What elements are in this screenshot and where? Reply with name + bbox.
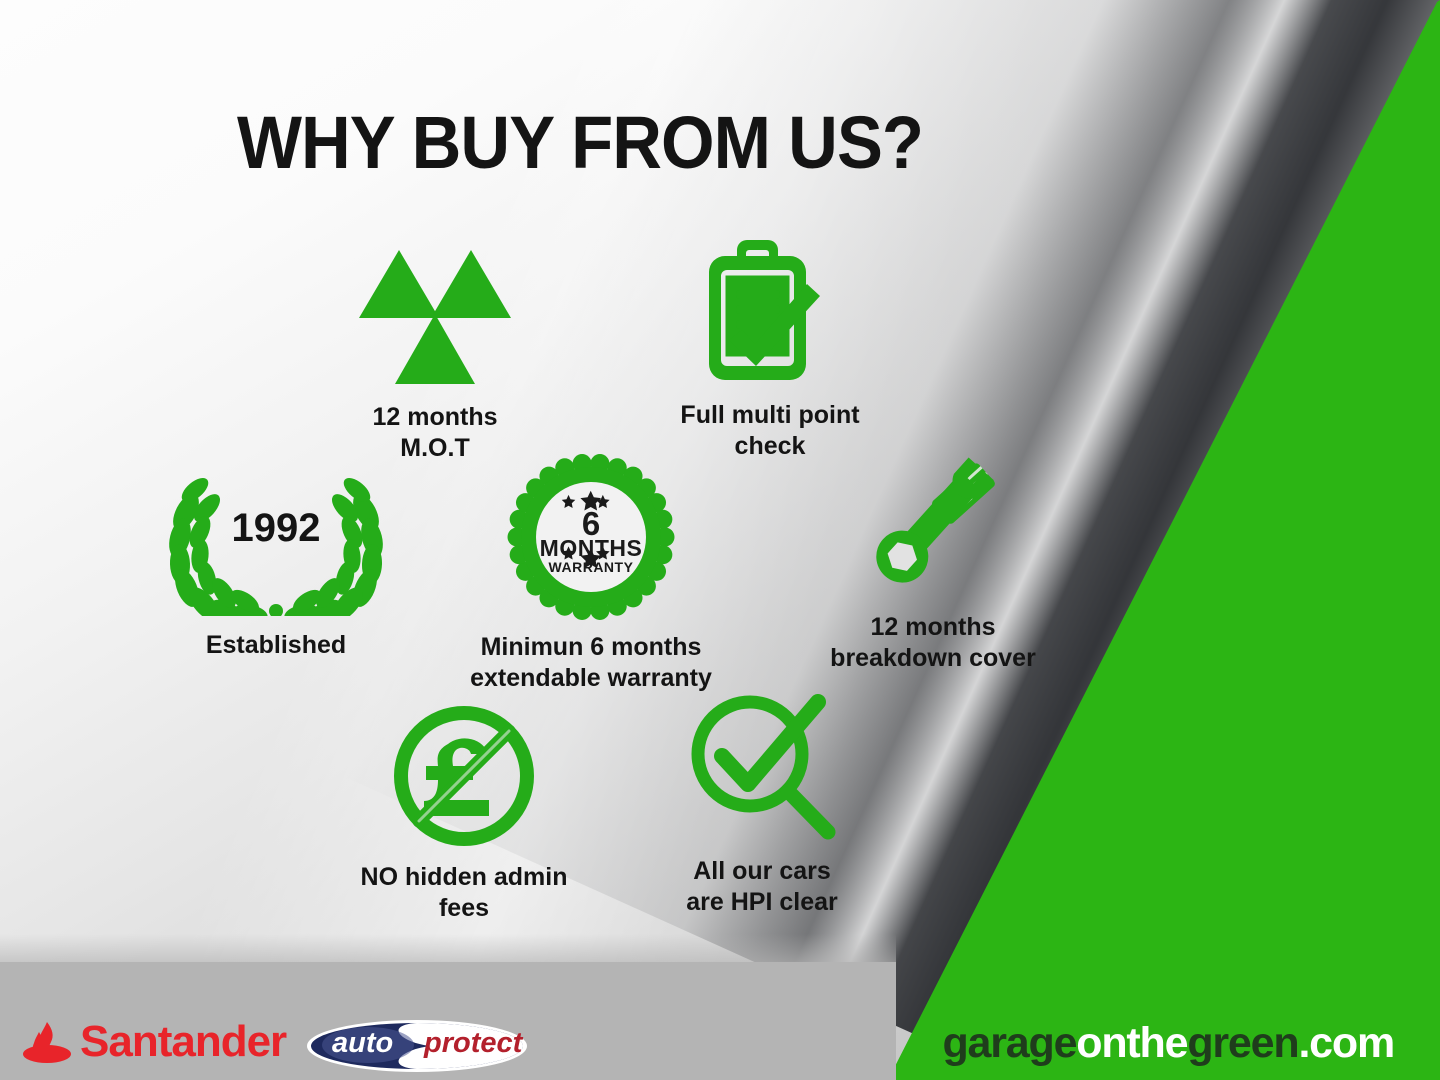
clipboard-check-icon: [630, 238, 910, 390]
feature-multi-point-check: Full multi point check: [630, 238, 910, 461]
svg-text:WARRANTY: WARRANTY: [549, 559, 634, 575]
autoprotect-logo[interactable]: auto protect: [306, 1018, 528, 1074]
feature-label: Established: [150, 630, 402, 661]
santander-flame-icon: [22, 1020, 72, 1064]
feature-warranty: 6 MONTHS WARRANTY Minimun 6 months exten…: [438, 452, 744, 693]
page-title: WHY BUY FROM US?: [41, 100, 1120, 185]
feature-established: 1992 Established: [150, 468, 402, 661]
autoprotect-word-auto: auto: [332, 1029, 393, 1058]
wrench-screwdriver-icon: [792, 440, 1074, 602]
brand-part-com: .com: [1298, 1019, 1394, 1067]
warranty-badge-icon: 6 MONTHS WARRANTY: [438, 452, 744, 622]
magnifier-check-icon: [618, 688, 906, 846]
feature-label: NO hidden admin fees: [324, 862, 604, 923]
feature-label: 12 months breakdown cover: [792, 612, 1074, 673]
feature-mot: 12 months M.O.T: [306, 244, 564, 463]
feature-label: All our cars are HPI clear: [618, 856, 906, 917]
svg-text:MONTHS: MONTHS: [540, 535, 643, 561]
santander-wordmark: Santander: [80, 1020, 286, 1064]
laurel-wreath-icon: 1992: [150, 468, 402, 616]
brand-part-green: green: [1187, 1019, 1298, 1067]
brand-part-onthe: onthe: [1076, 1019, 1187, 1067]
santander-logo[interactable]: Santander: [22, 1020, 286, 1064]
established-year: 1992: [150, 506, 402, 551]
autoprotect-word-protect: protect: [424, 1029, 522, 1058]
poster-canvas: WHY BUY FROM US? 12 months M.O.T: [0, 0, 1440, 1080]
footer-band-fade: [0, 934, 896, 980]
feature-hpi-clear: All our cars are HPI clear: [618, 688, 906, 917]
no-pound-fees-icon: [324, 700, 604, 852]
brand-part-garage: garage: [942, 1019, 1076, 1067]
brand-wordmark[interactable]: garageonthegreen.com: [942, 1022, 1394, 1065]
feature-no-hidden-fees: NO hidden admin fees: [324, 700, 604, 923]
feature-breakdown-cover: 12 months breakdown cover: [792, 440, 1074, 673]
feature-label: Minimun 6 months extendable warranty: [438, 632, 744, 693]
mot-triangles-icon: [306, 244, 564, 392]
